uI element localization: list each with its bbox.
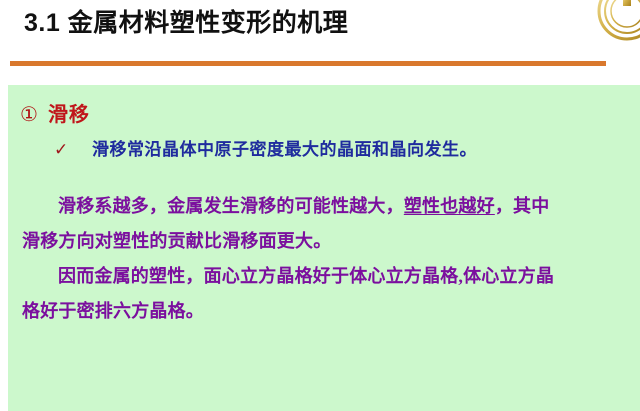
check-bullet-text: 滑移常沿晶体中原子密度最大的晶面和晶向发生。 (92, 135, 477, 160)
paragraph-line: 因而金属的塑性，面心立方晶格好于体心立方晶格,体心立方晶 (22, 259, 634, 294)
paragraph-line: 格好于密排六方晶格。 (22, 294, 634, 329)
paragraph-text-segment: 滑移系越多，金属发生滑移的可能性越大， (58, 196, 404, 216)
title-divider (10, 61, 606, 66)
paragraph-text-segment: 滑移方向对塑性的贡献比滑移面更大。 (22, 231, 331, 251)
paragraph-text-segment: ，其中 (495, 196, 550, 216)
paragraph-text-segment: 因而金属的塑性，面心立方晶格好于体心立方晶格,体心立方晶 (58, 266, 554, 286)
paragraph-line: 滑移方向对塑性的贡献比滑移面更大。 (22, 224, 634, 259)
paragraph-text-segment: 格好于密排六方晶格。 (22, 301, 204, 321)
bullet-heading: ① 滑移 (20, 98, 90, 127)
page-title: 3.1 金属材料塑性变形的机理 (24, 8, 348, 38)
corner-emblem-icon (596, 0, 640, 42)
content-panel: ① 滑移 ✓ 滑移常沿晶体中原子密度最大的晶面和晶向发生。 滑移系越多，金属发生… (8, 85, 640, 411)
paragraph-line: 滑移系越多，金属发生滑移的可能性越大，塑性也越好，其中 (22, 189, 634, 224)
check-icon: ✓ (54, 142, 92, 159)
paragraph-block: 滑移系越多，金属发生滑移的可能性越大，塑性也越好，其中 滑移方向对塑性的贡献比滑… (22, 189, 634, 329)
paragraph-text-underlined: 塑性也越好 (404, 196, 495, 216)
slide-canvas: 3.1 金属材料塑性变形的机理 (0, 0, 640, 411)
bullet-number-icon: ① (20, 104, 38, 124)
bullet-heading-label: 滑移 (48, 98, 90, 127)
check-bullet-row: ✓ 滑移常沿晶体中原子密度最大的晶面和晶向发生。 (54, 135, 477, 160)
